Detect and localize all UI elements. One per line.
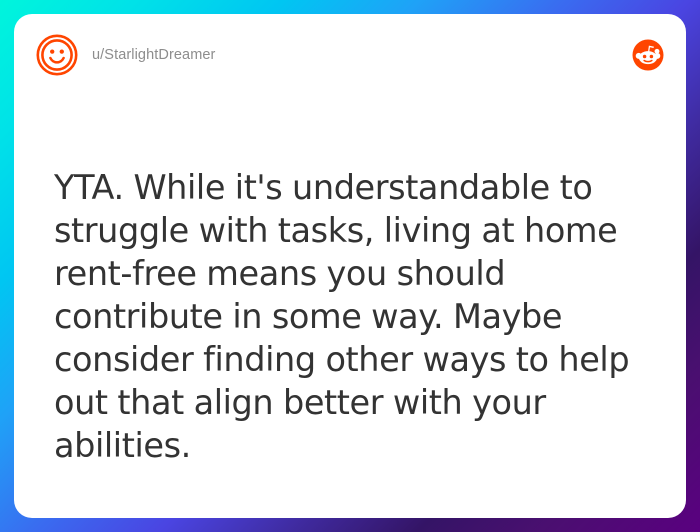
username-label: u/StarlightDreamer [92,48,216,63]
smiley-face-avatar-icon [36,34,78,76]
gradient-background: u/StarlightDreamer [0,0,700,532]
reddit-comment-card: u/StarlightDreamer [14,14,686,518]
comment-text: YTA. While it's understandable to strugg… [54,166,680,467]
reddit-snoo-logo-icon [632,39,664,71]
card-header: u/StarlightDreamer [14,14,686,96]
card-body: YTA. While it's understandable to strugg… [54,166,680,467]
